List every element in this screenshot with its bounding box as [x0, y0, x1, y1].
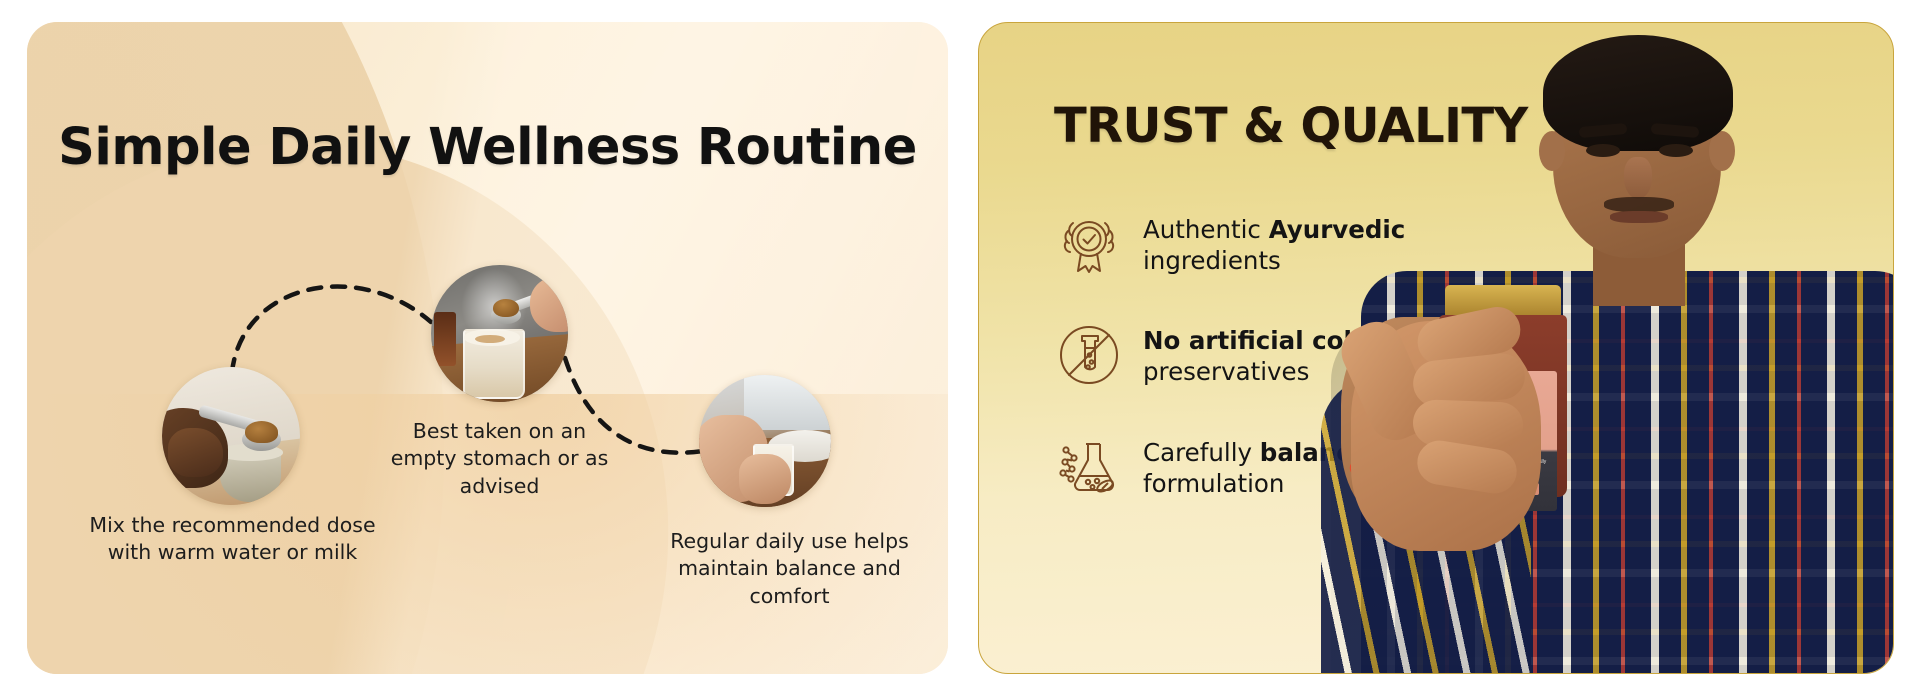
- wellness-routine-panel: Simple Daily Wellness Routine Mix: [27, 22, 948, 674]
- step-photo-1: [162, 367, 300, 505]
- flask-molecules-icon: [1054, 432, 1124, 502]
- no-chemicals-icon: [1054, 320, 1124, 390]
- step-photo-3: [699, 375, 831, 507]
- model-hair: [1543, 35, 1733, 151]
- product-model-photo: GLUCOBALANCE Naturally Manage Your Sugar…: [1321, 22, 1893, 673]
- trust-quality-panel: TRUST & QUALITY Authentic Ayurvedic ingr…: [978, 22, 1894, 674]
- step-photo-2: [431, 265, 568, 402]
- step-caption-1: Mix the recommended dose with warm water…: [80, 512, 385, 567]
- promo-banner: Simple Daily Wellness Routine Mix: [0, 0, 1920, 700]
- step-caption-2: Best taken on an empty stomach or as adv…: [378, 418, 621, 500]
- page-title: Simple Daily Wellness Routine: [27, 118, 948, 177]
- step-caption-3: Regular daily use helps maintain balance…: [652, 528, 927, 610]
- quality-badge-icon: [1054, 209, 1124, 279]
